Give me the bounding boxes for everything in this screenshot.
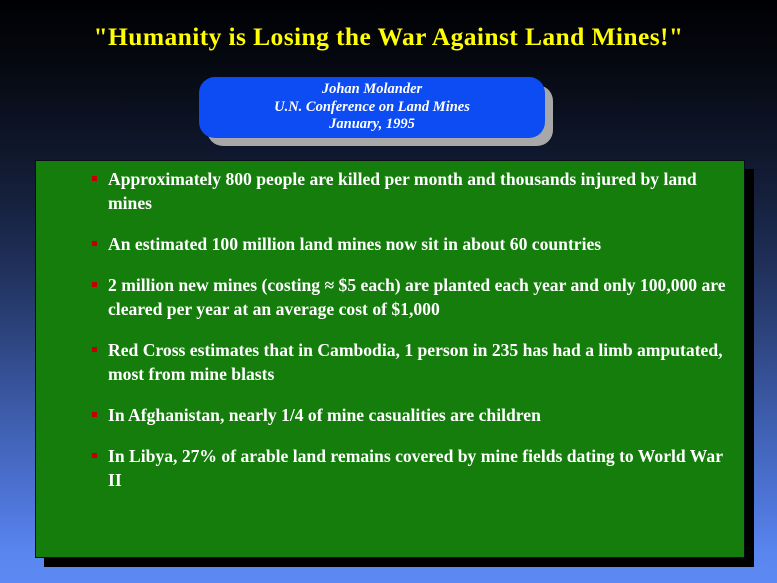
list-item-text: An estimated 100 million land mines now … (108, 232, 740, 256)
bullet-square-icon (92, 453, 97, 458)
list-item-text: Red Cross estimates that in Cambodia, 1 … (108, 338, 740, 386)
list-item: Red Cross estimates that in Cambodia, 1 … (36, 338, 745, 386)
bullet-square-icon (92, 176, 97, 181)
slide-title: "Humanity is Losing the War Against Land… (0, 22, 777, 52)
list-item-text: Approximately 800 people are killed per … (108, 167, 740, 215)
subtitle-plaque-body: Johan Molander U.N. Conference on Land M… (199, 77, 545, 138)
bullet-square-icon (92, 347, 97, 352)
content-panel: Approximately 800 people are killed per … (35, 160, 745, 558)
list-item: In Libya, 27% of arable land remains cov… (36, 444, 745, 492)
bullet-square-icon (92, 282, 97, 287)
list-item: 2 million new mines (costing ≈ $5 each) … (36, 273, 745, 321)
list-item: Approximately 800 people are killed per … (36, 167, 745, 215)
bullet-square-icon (92, 412, 97, 417)
list-item-text: In Afghanistan, nearly 1/4 of mine casua… (108, 403, 740, 427)
list-item-text: 2 million new mines (costing ≈ $5 each) … (108, 273, 740, 321)
subtitle-line-date: January, 1995 (329, 116, 415, 134)
list-item: An estimated 100 million land mines now … (36, 232, 745, 256)
bullet-square-icon (92, 241, 97, 246)
list-item-text: In Libya, 27% of arable land remains cov… (108, 444, 740, 492)
subtitle-line-speaker: Johan Molander (322, 81, 422, 99)
bullet-list: Approximately 800 people are killed per … (36, 167, 745, 509)
content-panel-body: Approximately 800 people are killed per … (35, 160, 745, 558)
list-item: In Afghanistan, nearly 1/4 of mine casua… (36, 403, 745, 427)
presentation-slide: "Humanity is Losing the War Against Land… (0, 0, 777, 583)
subtitle-line-event: U.N. Conference on Land Mines (274, 99, 470, 117)
subtitle-plaque: Johan Molander U.N. Conference on Land M… (199, 77, 545, 138)
